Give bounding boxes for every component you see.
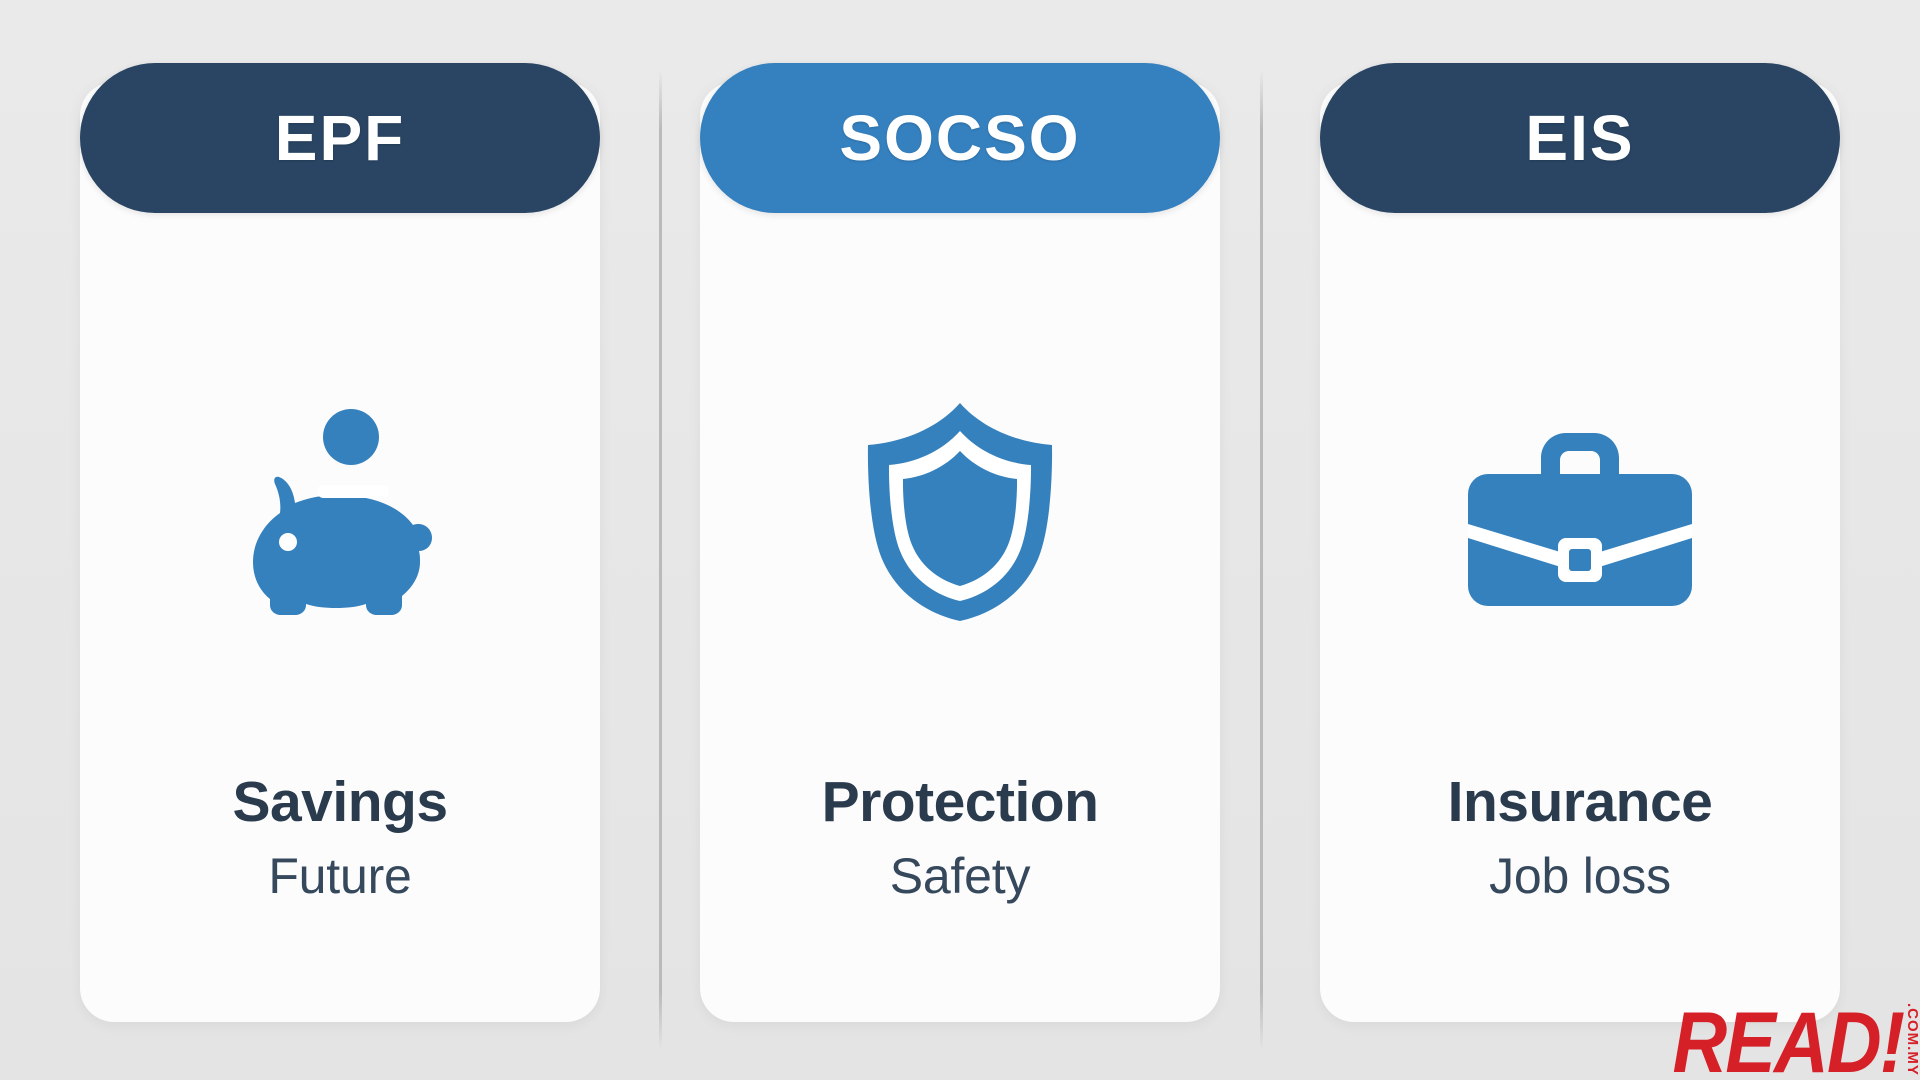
watermark-domain-text: .COM.MY xyxy=(1905,1003,1920,1076)
card-header-label-socso: SOCSO xyxy=(839,101,1080,175)
card-body-eis: EIS xyxy=(1320,82,1840,1022)
card-header-label-eis: EIS xyxy=(1525,101,1634,175)
shield-icon xyxy=(860,401,1060,623)
watermark-read-com-my: READ! .COM.MY xyxy=(1641,1000,1920,1080)
card-subtitle-epf: Future xyxy=(80,848,600,904)
card-header-epf[interactable]: EPF xyxy=(80,63,600,213)
card-header-label-epf: EPF xyxy=(275,101,405,175)
text-area-eis: Insurance Job loss xyxy=(1320,772,1840,904)
card-header-socso[interactable]: SOCSO xyxy=(700,63,1220,213)
card-body-socso: SOCSO Protecti xyxy=(700,82,1220,1022)
infographic-stage: EPF xyxy=(0,0,1920,1080)
card-socso[interactable]: SOCSO Protecti xyxy=(700,82,1220,1022)
text-area-socso: Protection Safety xyxy=(700,772,1220,904)
icon-area-eis xyxy=(1320,382,1840,642)
piggy-bank-icon xyxy=(225,407,455,617)
text-area-epf: Savings Future xyxy=(80,772,600,904)
briefcase-icon xyxy=(1462,412,1698,612)
card-title-socso: Protection xyxy=(700,772,1220,834)
card-body-epf: EPF xyxy=(80,82,600,1022)
icon-area-epf xyxy=(80,382,600,642)
card-eis[interactable]: EIS xyxy=(1320,82,1840,1022)
icon-area-socso xyxy=(700,382,1220,642)
card-epf[interactable]: EPF xyxy=(80,82,600,1022)
card-title-eis: Insurance xyxy=(1320,772,1840,834)
card-header-eis[interactable]: EIS xyxy=(1320,63,1840,213)
watermark-main-text: READ! xyxy=(1672,1000,1903,1080)
card-subtitle-socso: Safety xyxy=(700,848,1220,904)
card-title-epf: Savings xyxy=(80,772,600,834)
card-subtitle-eis: Job loss xyxy=(1320,848,1840,904)
benefit-cards-row: EPF xyxy=(0,0,1920,1080)
